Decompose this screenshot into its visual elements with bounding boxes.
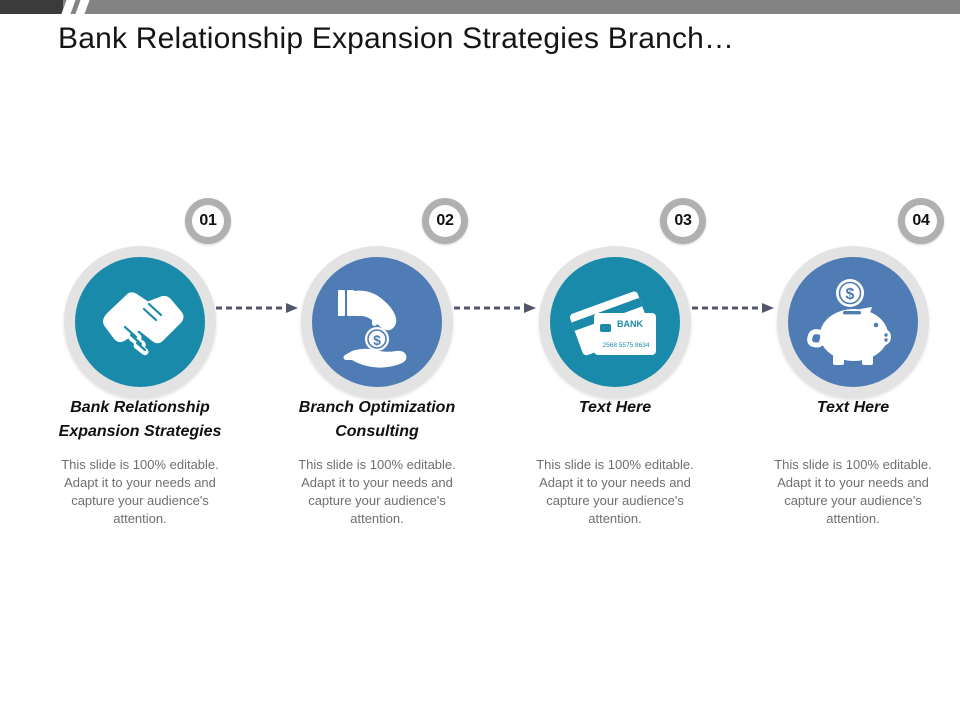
card-bank-label: BANK <box>617 319 643 329</box>
circle-inner <box>75 257 205 387</box>
step-item-4[interactable]: $ <box>734 198 960 578</box>
page-title: Bank Relationship Expansion Strategies B… <box>58 20 938 58</box>
step-2-icon-circle[interactable]: $ <box>301 246 453 398</box>
step-4-number: 04 <box>905 205 937 237</box>
step-1-number: 01 <box>192 205 224 237</box>
step-item-1[interactable]: 01 Bank Relationship Expansion Strategie… <box>21 198 259 578</box>
step-2-heading: Branch Optimization Consulting <box>266 396 488 444</box>
step-3-icon-circle[interactable]: BANK 2568 5575 8634 <box>539 246 691 398</box>
step-4-icon-circle[interactable]: $ <box>777 246 929 398</box>
step-1-heading: Bank Relationship Expansion Strategies <box>29 396 251 444</box>
header-band-light <box>63 0 960 14</box>
bank-cards-icon: BANK 2568 5575 8634 <box>550 257 680 387</box>
circle-inner: BANK 2568 5575 8634 <box>550 257 680 387</box>
process-steps-row: 01 Bank Relationship Expansion Strategie… <box>0 198 960 578</box>
step-4-body: This slide is 100% editable. Adapt it to… <box>756 456 950 528</box>
step-2-body: This slide is 100% editable. Adapt it to… <box>280 456 474 528</box>
piggy-bank-icon: $ <box>788 257 918 387</box>
step-2-number-badge: 02 <box>422 198 468 244</box>
handshake-icon <box>75 257 205 387</box>
svg-text:$: $ <box>846 286 855 303</box>
step-1-body: This slide is 100% editable. Adapt it to… <box>43 456 237 528</box>
card-number-label: 2568 5575 8634 <box>603 342 650 349</box>
step-item-2[interactable]: $ 02 Branch Optimization Consulting This… <box>258 198 496 578</box>
step-1-number-badge: 01 <box>185 198 231 244</box>
header-band-dark <box>0 0 63 14</box>
step-4-heading: Text Here <box>742 396 960 420</box>
step-item-3[interactable]: BANK 2568 5575 8634 03 Text Here This sl… <box>496 198 734 578</box>
header-accent-band <box>0 0 960 14</box>
circle-inner: $ <box>312 257 442 387</box>
step-3-number: 03 <box>667 205 699 237</box>
hand-giving-coin-icon: $ <box>312 257 442 387</box>
circle-inner: $ <box>788 257 918 387</box>
step-3-heading: Text Here <box>504 396 726 420</box>
step-3-number-badge: 03 <box>660 198 706 244</box>
step-3-body: This slide is 100% editable. Adapt it to… <box>518 456 712 528</box>
step-1-icon-circle[interactable] <box>64 246 216 398</box>
step-2-number: 02 <box>429 205 461 237</box>
svg-text:$: $ <box>373 332 381 348</box>
step-4-number-badge: 04 <box>898 198 944 244</box>
